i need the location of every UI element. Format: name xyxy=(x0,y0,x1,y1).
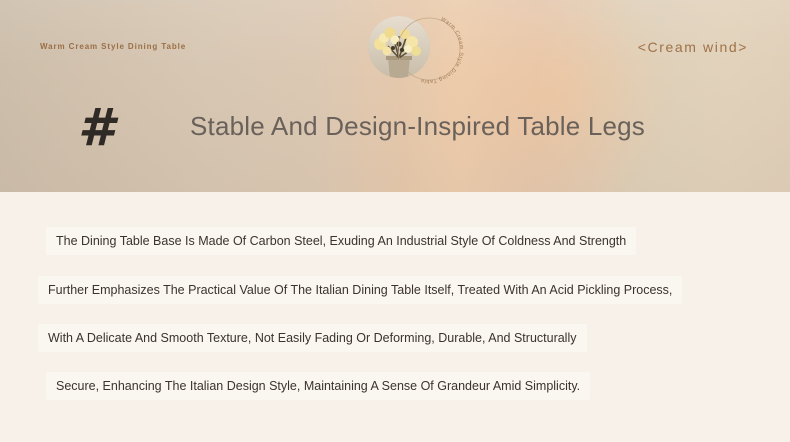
body-line: Further Emphasizes The Practical Value O… xyxy=(38,276,682,304)
body-line: Secure, Enhancing The Italian Design Sty… xyxy=(46,372,590,400)
page-title: Stable And Design-Inspired Table Legs xyxy=(190,111,645,142)
corner-series-label: <Cream wind> xyxy=(638,39,748,55)
circular-badge: Warm Cream Style Dining Table xyxy=(360,8,470,94)
svg-text:Warm Cream Style Dining Table: Warm Cream Style Dining Table xyxy=(420,16,464,84)
body-line: With A Delicate And Smooth Texture, Not … xyxy=(38,324,587,352)
hash-icon: # xyxy=(74,101,118,155)
body-panel: The Dining Table Base Is Made Of Carbon … xyxy=(0,192,790,442)
slide-canvas: Warm Cream Style Dining Table <Cream win… xyxy=(0,0,790,442)
brand-tag-label: Warm Cream Style Dining Table xyxy=(40,42,186,51)
badge-ring-text: Warm Cream Style Dining Table xyxy=(390,10,468,88)
body-line: The Dining Table Base Is Made Of Carbon … xyxy=(46,227,636,255)
badge-ring-art: Warm Cream Style Dining Table xyxy=(390,10,468,88)
